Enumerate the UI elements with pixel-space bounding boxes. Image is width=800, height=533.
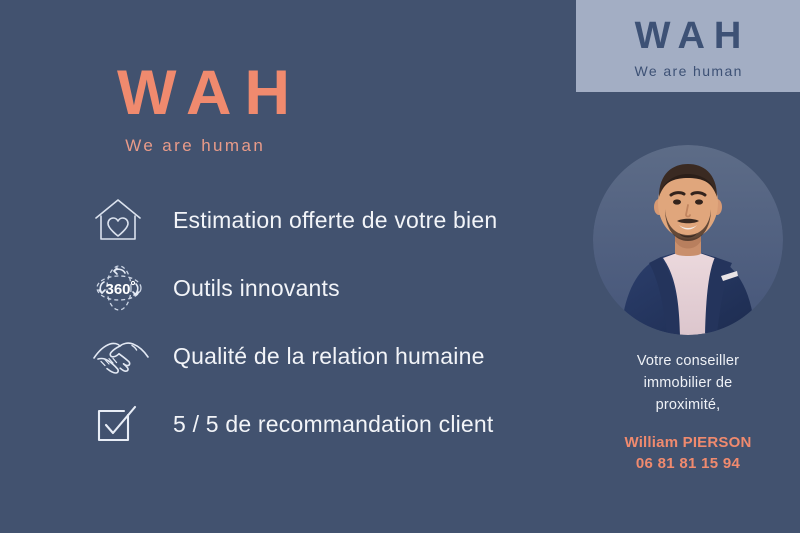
- feature-label: Outils innovants: [173, 275, 340, 302]
- feature-label: Qualité de la relation humaine: [173, 343, 485, 370]
- agent-phone[interactable]: 06 81 81 15 94: [588, 455, 788, 472]
- main-logo-tagline: We are human: [104, 137, 284, 154]
- house-heart-icon: [90, 194, 152, 246]
- main-logo: WAH We are human: [104, 62, 284, 154]
- 360-rotation-icon: 360: [90, 260, 152, 316]
- agent-tagline-line3: proximité,: [588, 395, 788, 417]
- feature-label: 5 / 5 de recommandation client: [173, 411, 494, 438]
- main-logo-wordmark: WAH: [104, 62, 284, 125]
- secondary-logo-tagline: We are human: [633, 64, 743, 78]
- avatar: [593, 145, 783, 335]
- feature-item-outils: 360 Outils innovants: [90, 254, 497, 322]
- checkbox-checked-icon: [90, 398, 152, 450]
- feature-item-recommandation: 5 / 5 de recommandation client: [90, 390, 497, 458]
- feature-list: Estimation offerte de votre bien 360 Out…: [90, 186, 497, 458]
- feature-item-relation: Qualité de la relation humaine: [90, 322, 497, 390]
- agent-tagline: Votre conseiller immobilier de proximité…: [588, 351, 788, 416]
- agent-block: Votre conseiller immobilier de proximité…: [588, 145, 788, 472]
- agent-tagline-line1: Votre conseiller: [588, 351, 788, 373]
- handshake-icon: [90, 331, 152, 381]
- agent-portrait: [593, 145, 783, 335]
- secondary-logo-wordmark: WAH: [626, 17, 751, 55]
- 360-icon-text: 360: [105, 281, 130, 298]
- feature-label: Estimation offerte de votre bien: [173, 207, 497, 234]
- feature-item-estimation: Estimation offerte de votre bien: [90, 186, 497, 254]
- agent-tagline-line2: immobilier de: [588, 373, 788, 395]
- secondary-logo-box: WAH We are human: [576, 0, 800, 92]
- promo-card: WAH We are human WAH We are human Estima…: [0, 0, 800, 533]
- agent-name: William PIERSON: [588, 434, 788, 451]
